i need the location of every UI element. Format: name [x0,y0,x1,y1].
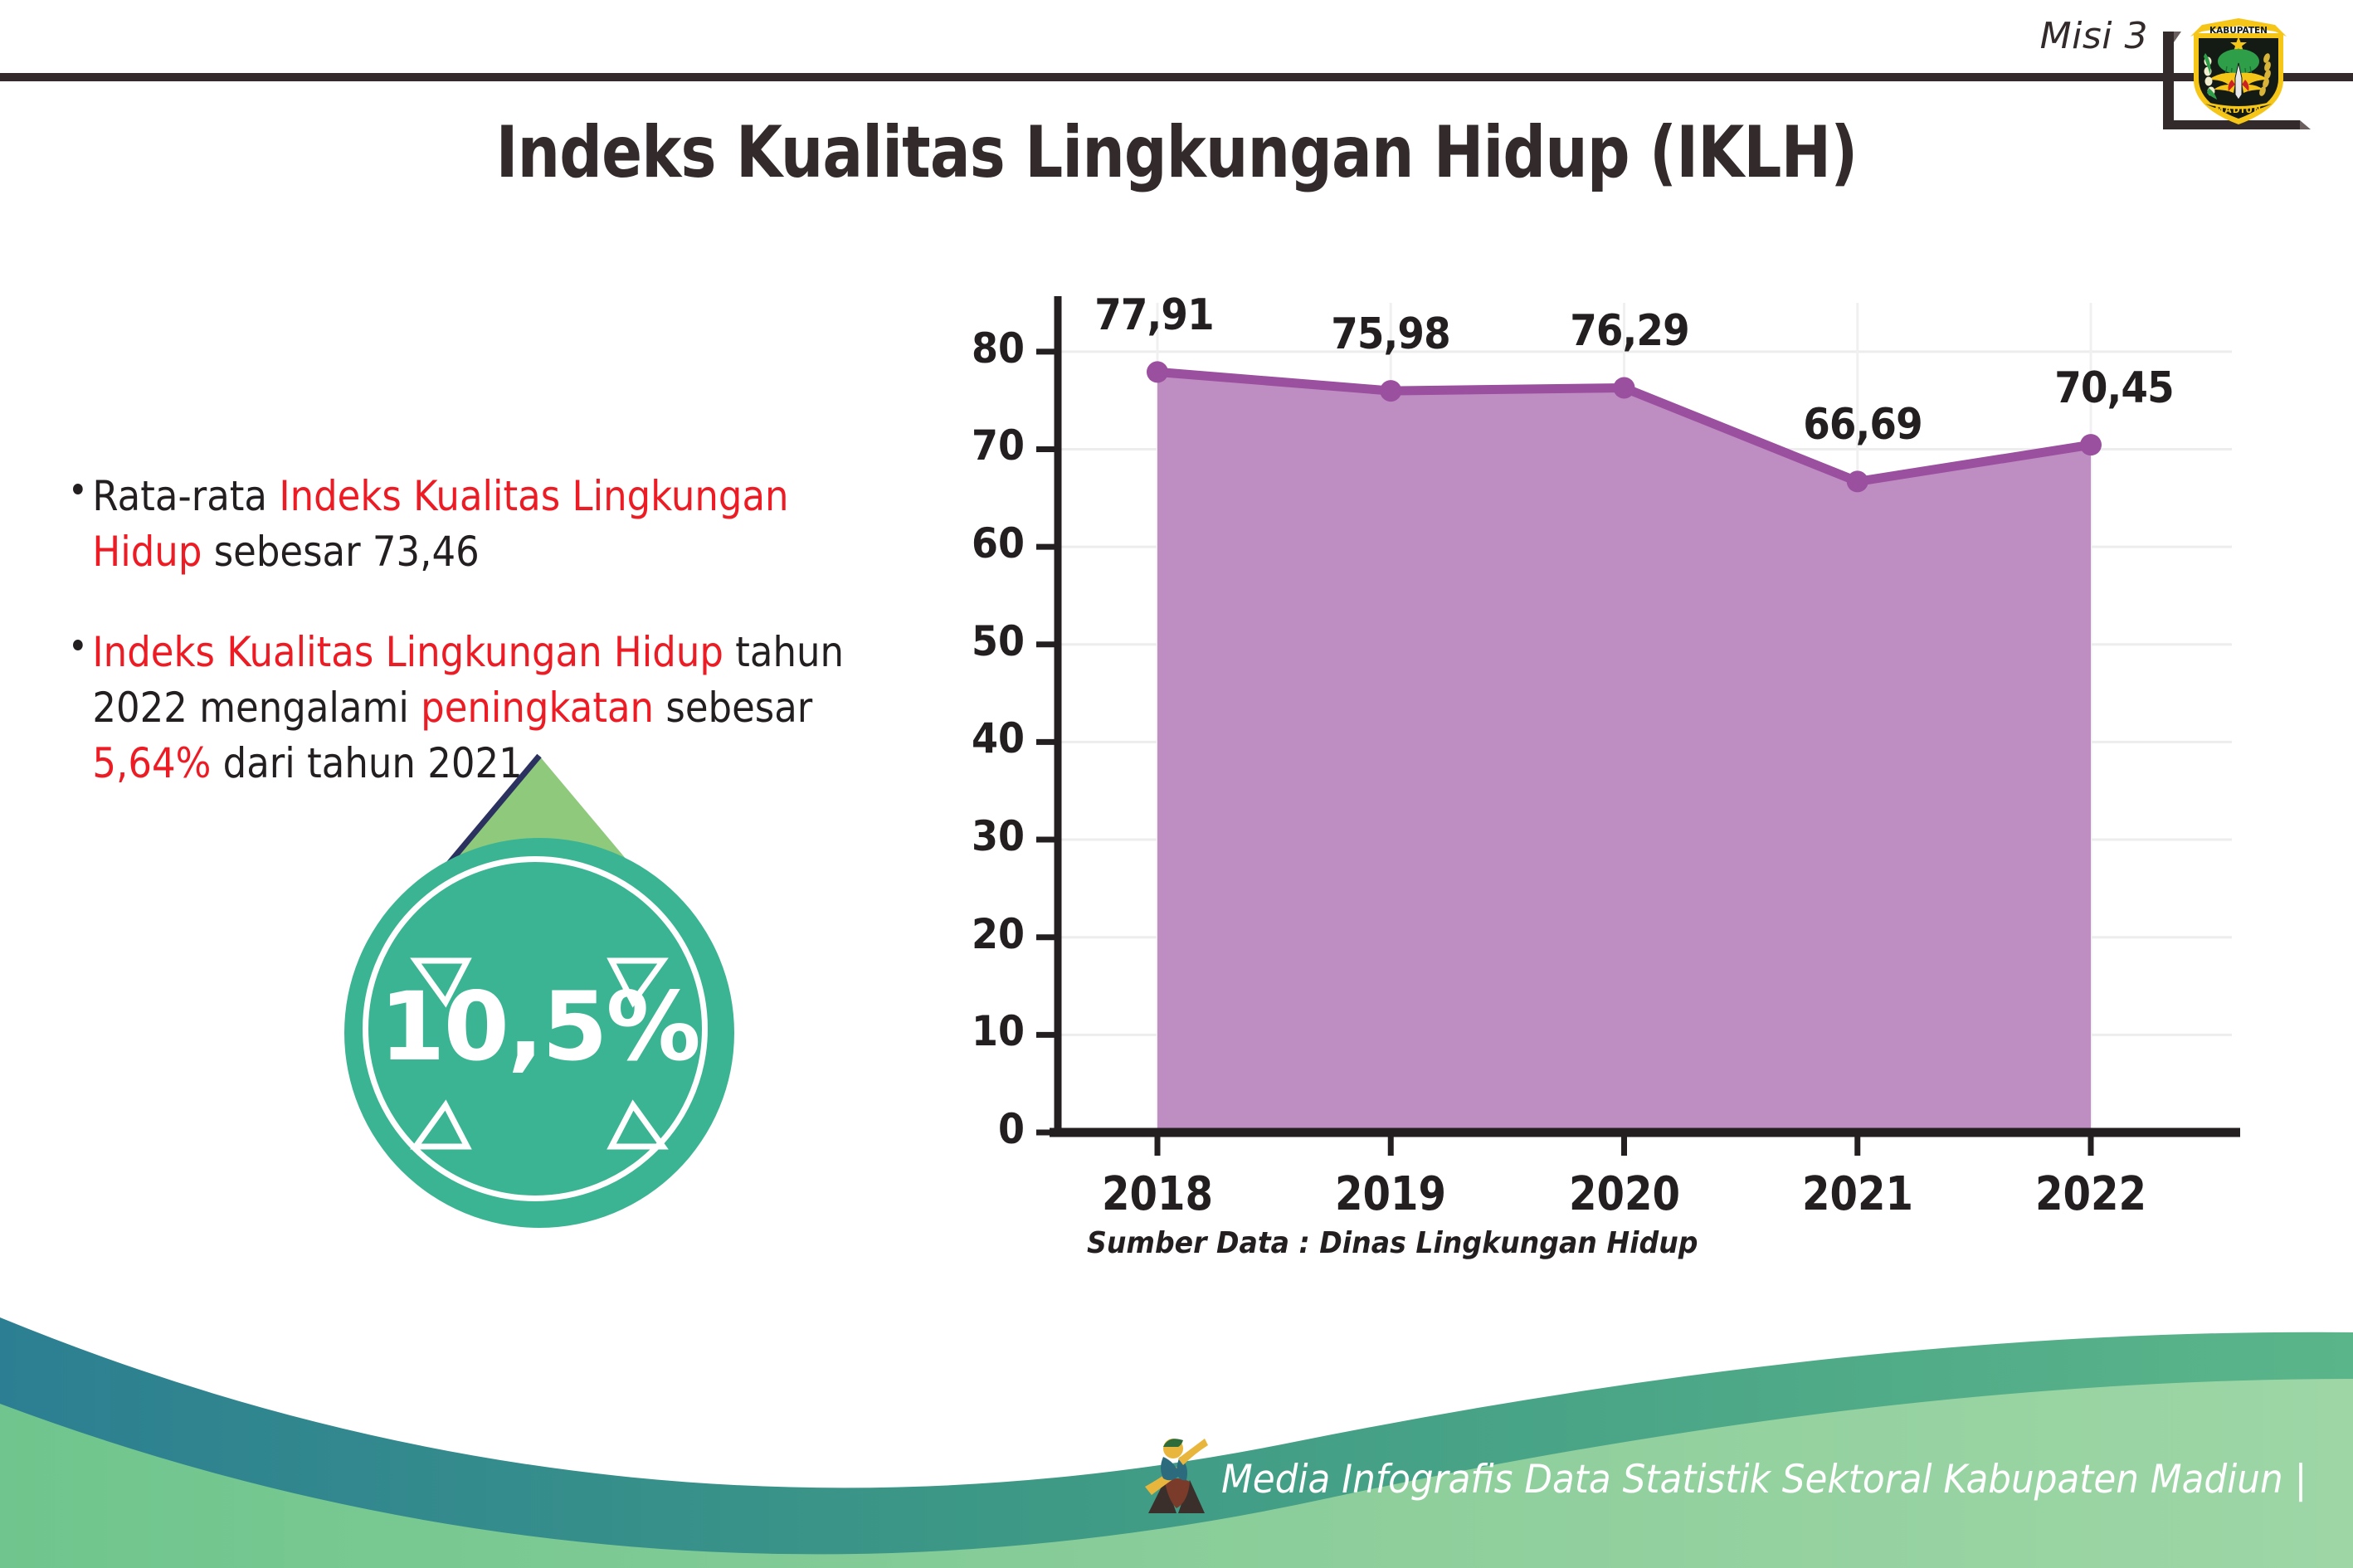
bracket-vertical-bevel [2174,32,2181,42]
y-axis-tick-label: 80 [948,324,1025,373]
logo-top-text: KABUPATEN [2209,26,2268,36]
badge-value: 10,5% [344,971,734,1082]
plain-phrase: Rata-rata [92,472,279,520]
x-axis-tick-label: 2020 [1553,1167,1696,1221]
bullet-dot-icon [73,640,83,650]
highlighted-phrase: Indeks Kualitas Lingkungan Hidup [92,628,723,676]
y-axis-tick-label: 40 [948,714,1025,762]
x-axis-tick-label: 2022 [2019,1167,2162,1221]
highlighted-phrase: peningkatan [421,684,654,732]
plain-phrase: sebesar [654,684,812,732]
chart-source-note: Sumber Data : Dinas Lingkungan Hidup [1087,1226,1698,1260]
data-point-label: 66,69 [1776,400,1948,450]
bracket-horizontal-bevel [2300,120,2311,129]
bullet-dot-icon [73,484,83,494]
list-item: Rata-rata Indeks Kualitas Lingkungan Hid… [73,469,865,580]
data-point-label: 76,29 [1543,306,1715,356]
header-divider-rule [0,73,2353,81]
x-axis-tick-label: 2019 [1319,1167,1462,1221]
javanese-dancer-icon [1143,1432,1210,1519]
data-point-label: 70,45 [2029,363,2200,413]
page-title: Indeks Kualitas Lingkungan Hidup (IKLH) [188,111,2165,194]
y-axis-tick-label: 20 [948,910,1025,958]
y-axis-tick-label: 50 [948,617,1025,665]
x-axis-tick-label: 2018 [1086,1167,1229,1221]
y-axis-tick-label: 60 [948,519,1025,567]
mission-label: Misi 3 [2040,15,2148,57]
y-axis-tick-label: 0 [948,1105,1025,1153]
highlighted-phrase: 5,64% [92,739,211,787]
y-axis-tick-label: 30 [948,812,1025,860]
plain-phrase: sebesar 73,46 [202,528,479,576]
iklh-area-chart: 01020304050607080 20182019202020212022 7… [954,295,2265,1207]
logo-bottom-text: MADIUN [2215,105,2263,115]
chart-canvas [954,295,2265,1207]
x-axis-tick-label: 2021 [1786,1167,1929,1221]
bullet-text: Rata-rata Indeks Kualitas Lingkungan Hid… [73,469,865,580]
footer-caption: Media Infografis Data Statistik Sektoral… [1221,1457,2307,1502]
data-point-label: 77,91 [1069,290,1240,340]
data-point-label: 75,98 [1305,309,1477,359]
increase-badge: 10,5% [328,751,751,1199]
y-axis-tick-label: 10 [948,1007,1025,1055]
kabupaten-madiun-seal-icon: KABUPATEN MADIUN [2187,15,2290,126]
chart-area-fill [1157,372,2091,1132]
y-axis-tick-label: 70 [948,421,1025,470]
